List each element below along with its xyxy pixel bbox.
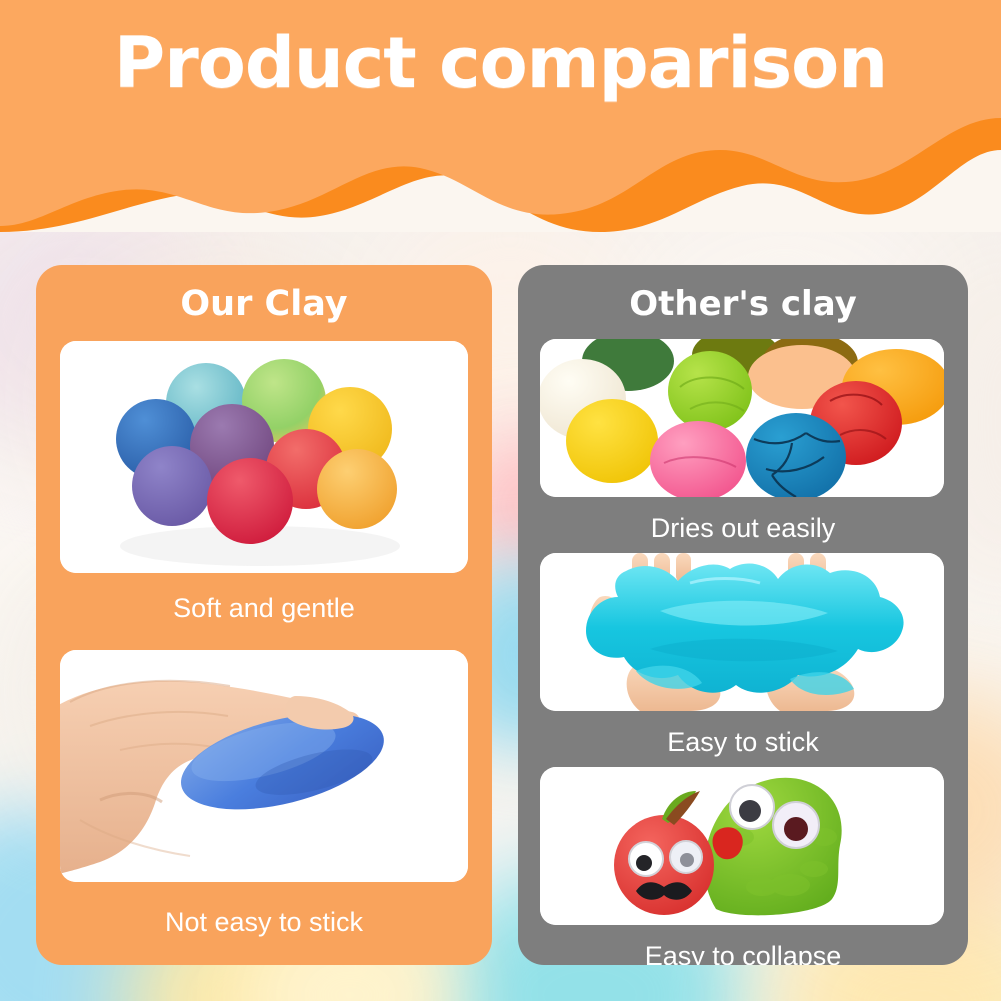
- caption-our-clay-1: Soft and gentle: [36, 595, 492, 622]
- cracked-clay-balls-photo: [540, 339, 944, 497]
- card-our-clay-not-easy-to-stick[interactable]: [60, 650, 468, 882]
- hand-holding-blue-clay-photo: [60, 650, 468, 882]
- blue-slime-stretched-hands-photo: [540, 553, 944, 711]
- comparison-infographic: Product comparison Our Clay: [0, 0, 1001, 1001]
- panel-our-clay[interactable]: Our Clay: [36, 265, 492, 965]
- panel-others-clay-title: Other's clay: [518, 265, 968, 321]
- caption-others-clay-1: Dries out easily: [518, 515, 968, 542]
- panels-container: Our Clay: [0, 0, 1001, 1001]
- clay-balls-pastel-photo: [60, 341, 468, 573]
- clay-figures-apple-monster-photo: [540, 767, 944, 925]
- card-our-clay-soft-and-gentle[interactable]: [60, 341, 468, 573]
- caption-our-clay-2: Not easy to stick: [36, 909, 492, 936]
- panel-our-clay-title: Our Clay: [36, 265, 492, 322]
- caption-others-clay-3: Easy to collapse: [518, 943, 968, 965]
- caption-others-clay-2: Easy to stick: [518, 729, 968, 756]
- card-others-clay-easy-to-stick[interactable]: [540, 553, 944, 711]
- card-others-clay-dries-out-easily[interactable]: [540, 339, 944, 497]
- panel-others-clay[interactable]: Other's clay: [518, 265, 968, 965]
- card-others-clay-easy-to-collapse[interactable]: [540, 767, 944, 925]
